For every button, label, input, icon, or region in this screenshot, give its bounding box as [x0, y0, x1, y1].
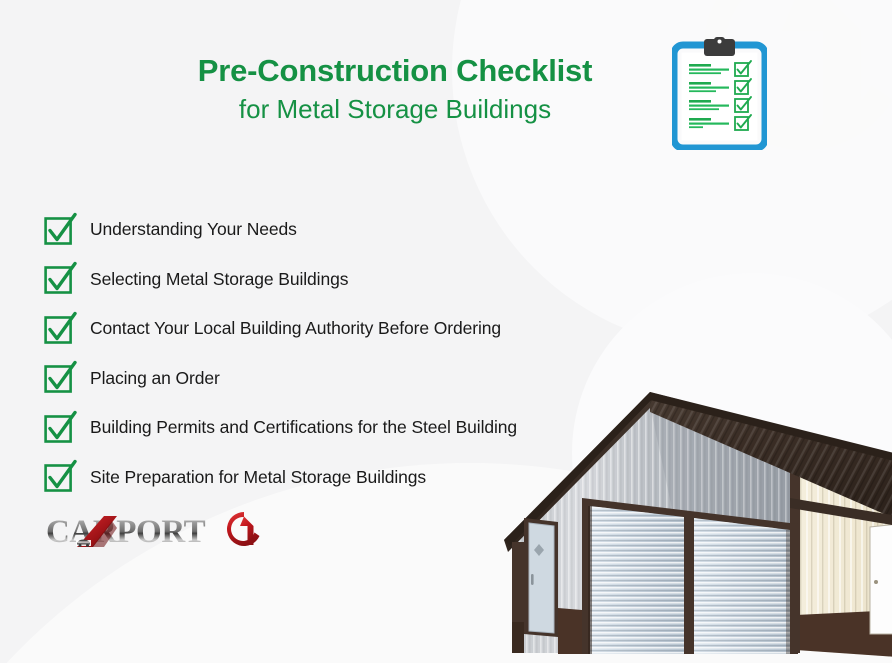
checkbox-checked-icon[interactable]: [44, 361, 76, 395]
list-item-label: Contact Your Local Building Authority Be…: [90, 318, 501, 339]
poster-canvas: Pre-Construction Checklist for Metal Sto…: [0, 0, 892, 663]
list-item[interactable]: Contact Your Local Building Authority Be…: [44, 304, 664, 354]
checkbox-checked-icon[interactable]: [44, 312, 76, 346]
list-item[interactable]: Understanding Your Needs: [44, 205, 664, 255]
checkbox-checked-icon[interactable]: [44, 411, 76, 445]
list-item-label: Site Preparation for Metal Storage Build…: [90, 467, 426, 488]
carport1-logo[interactable]: CARPORT 1: [46, 509, 264, 555]
list-item[interactable]: Selecting Metal Storage Buildings: [44, 255, 664, 305]
metal-storage-building-illustration: [498, 372, 892, 663]
checkbox-checked-icon[interactable]: [44, 262, 76, 296]
list-item-label: Building Permits and Certifications for …: [90, 417, 517, 438]
list-item-label: Understanding Your Needs: [90, 219, 297, 240]
checkbox-checked-icon[interactable]: [44, 460, 76, 494]
list-item-label: Selecting Metal Storage Buildings: [90, 269, 348, 290]
list-item-label: Placing an Order: [90, 368, 220, 389]
logo-badge-ring: [227, 512, 259, 546]
checkbox-checked-icon[interactable]: [44, 213, 76, 247]
clipboard-checklist-icon: [672, 37, 767, 150]
logo-wordmark: CARPORT: [46, 514, 206, 550]
